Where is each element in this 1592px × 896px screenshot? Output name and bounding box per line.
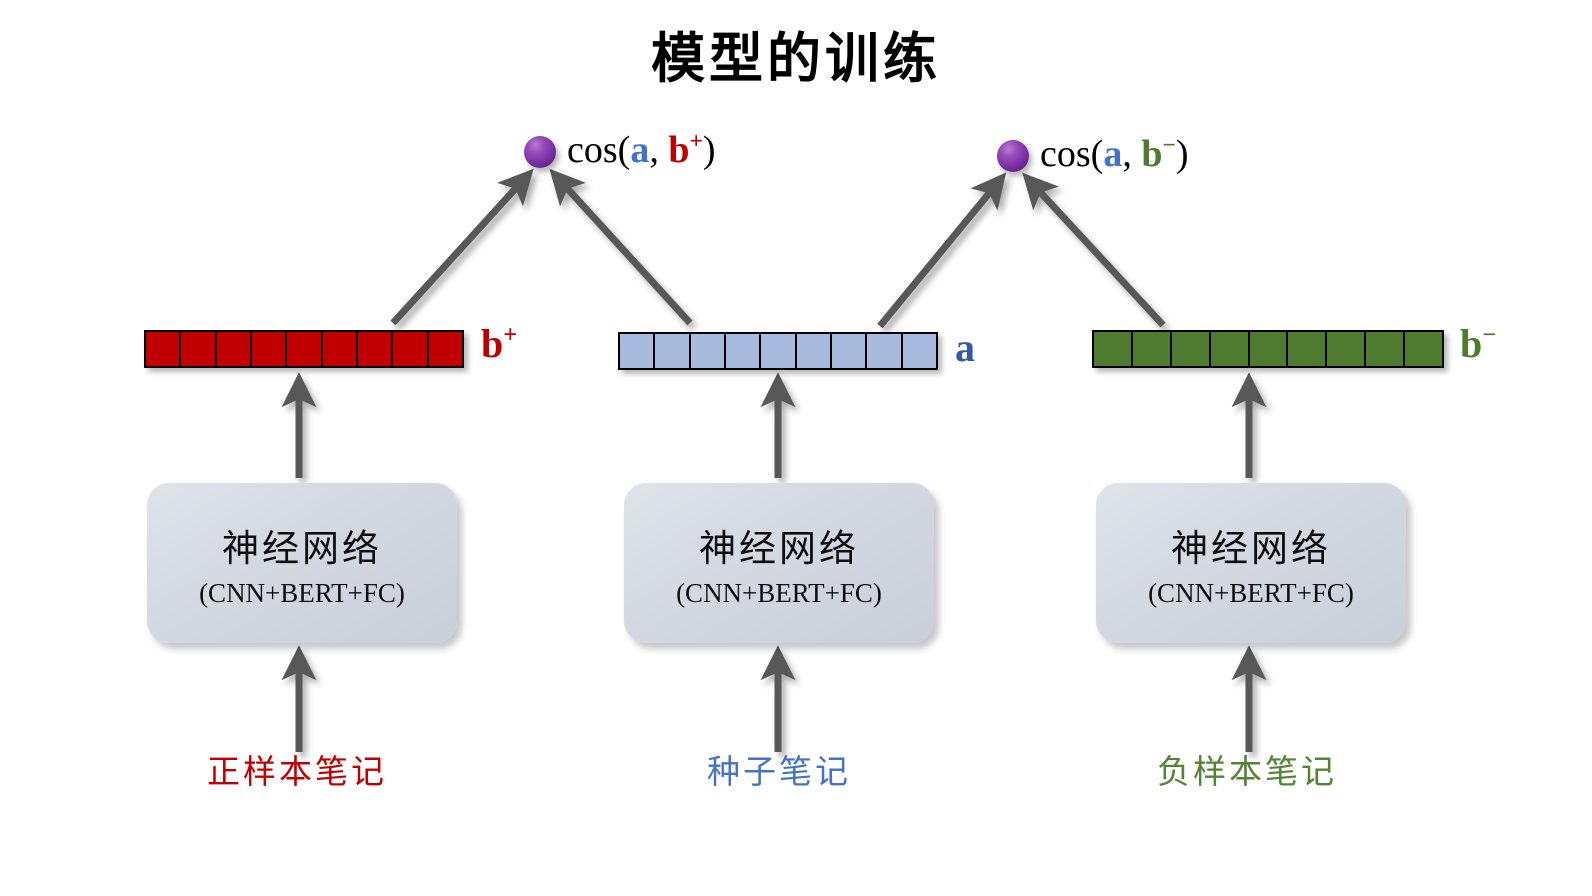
vector-bplus[interactable]	[144, 330, 464, 368]
vector-a[interactable]	[618, 332, 938, 370]
vector-cell	[726, 334, 761, 368]
encoder-box-positive[interactable]: 神经网络 (CNN+BERT+FC)	[147, 483, 457, 643]
vector-cell	[146, 332, 181, 366]
vector-bplus-label: b+	[481, 324, 517, 364]
vector-cell	[761, 334, 796, 368]
vector-cell	[1211, 332, 1250, 366]
cos-positive-label: cos(a, b+)	[567, 131, 716, 169]
vector-cell	[358, 332, 393, 366]
vector-cell	[832, 334, 867, 368]
vector-cell	[181, 332, 216, 366]
vector-cell	[1172, 332, 1211, 366]
arrow-bplus-to-cos-positive	[393, 176, 527, 323]
input-label-anchor: 种子笔记	[707, 757, 851, 790]
encoder-box-negative[interactable]: 神经网络 (CNN+BERT+FC)	[1096, 483, 1406, 643]
cos-prefix: cos(	[567, 129, 630, 171]
vector-cell	[1366, 332, 1405, 366]
vector-bminus-inline: b	[1141, 133, 1162, 175]
encoder-title: 神经网络	[1171, 518, 1331, 572]
page-title: 模型的训练	[0, 14, 1592, 93]
vector-bminus-label: b−	[1460, 324, 1496, 364]
vector-cell	[1250, 332, 1289, 366]
diagram-canvas: 模型的训练	[0, 0, 1592, 896]
vector-bminus-sign: −	[1162, 132, 1175, 158]
encoder-box-anchor[interactable]: 神经网络 (CNN+BERT+FC)	[624, 483, 934, 643]
vector-a-inline: a	[1103, 133, 1122, 175]
vector-bplus-name: b	[481, 321, 503, 366]
vector-cell	[1094, 332, 1133, 366]
encoder-subtitle: (CNN+BERT+FC)	[199, 578, 405, 609]
vector-cell	[620, 334, 655, 368]
vector-bminus-superscript: −	[1482, 322, 1496, 349]
cosine-similarity-node-positive[interactable]	[524, 136, 556, 168]
encoder-subtitle: (CNN+BERT+FC)	[676, 578, 882, 609]
cos-separator: ,	[1122, 133, 1141, 175]
vector-bplus-inline: b	[668, 129, 689, 171]
cos-prefix: cos(	[1040, 133, 1103, 175]
encoder-title: 神经网络	[699, 518, 859, 572]
vector-a-name: a	[955, 325, 975, 370]
vector-cell	[217, 332, 252, 366]
vector-cell	[323, 332, 358, 366]
vector-cell	[1288, 332, 1327, 366]
vector-cell	[429, 332, 462, 366]
vector-cell	[252, 332, 287, 366]
vector-cell	[1405, 332, 1442, 366]
vector-cell	[1327, 332, 1366, 366]
encoder-subtitle: (CNN+BERT+FC)	[1148, 578, 1354, 609]
vector-cell	[903, 334, 936, 368]
input-label-negative: 负样本笔记	[1157, 757, 1337, 790]
vector-cell	[797, 334, 832, 368]
cos-separator: ,	[649, 129, 668, 171]
vector-a-label: a	[955, 328, 975, 368]
vector-bplus-superscript: +	[503, 322, 517, 349]
vector-cell	[287, 332, 322, 366]
vector-bminus[interactable]	[1092, 330, 1444, 368]
cos-negative-label: cos(a, b−)	[1040, 135, 1189, 173]
vector-cell	[655, 334, 690, 368]
arrow-anchor-to-cos-positive	[556, 176, 690, 323]
encoder-title: 神经网络	[222, 518, 382, 572]
vector-cell	[691, 334, 726, 368]
vector-bminus-name: b	[1460, 321, 1482, 366]
vector-a-inline: a	[630, 129, 649, 171]
cosine-similarity-node-negative[interactable]	[997, 140, 1029, 172]
vector-bplus-sign: +	[689, 128, 702, 154]
arrow-anchor-to-cos-negative	[880, 180, 1000, 326]
vector-cell	[1133, 332, 1172, 366]
cos-suffix: )	[1176, 133, 1189, 175]
vector-cell	[867, 334, 902, 368]
input-label-positive: 正样本笔记	[207, 757, 387, 790]
arrow-bminus-to-cos-negative	[1029, 180, 1163, 325]
vector-cell	[393, 332, 428, 366]
cos-suffix: )	[703, 129, 716, 171]
